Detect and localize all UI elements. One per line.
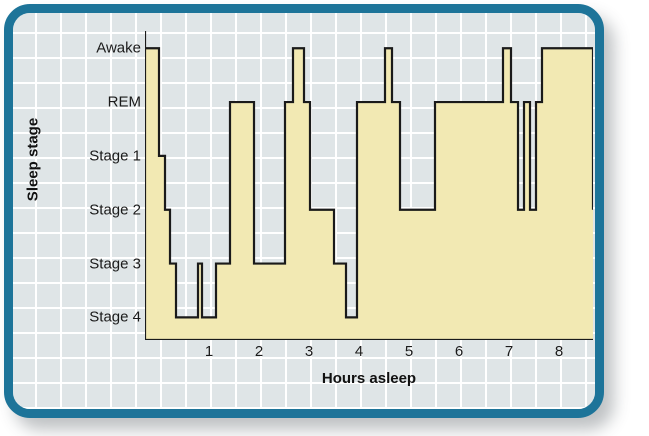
y-tick-rem: REM	[108, 94, 141, 111]
y-tick-awake: Awake	[96, 40, 141, 57]
x-tick-2: 2	[255, 343, 263, 360]
y-tick-stage-4: Stage 4	[89, 309, 141, 326]
y-tick-stage-2: Stage 2	[89, 201, 141, 218]
hypnogram-area-fill	[145, 48, 593, 340]
y-tick-stage-3: Stage 3	[89, 255, 141, 272]
x-tick-8: 8	[555, 343, 563, 360]
x-tick-5: 5	[405, 343, 413, 360]
x-tick-4: 4	[355, 343, 363, 360]
x-tick-7: 7	[505, 343, 513, 360]
plot-area	[145, 31, 593, 340]
x-tick-3: 3	[305, 343, 313, 360]
hypnogram-chart	[145, 31, 593, 340]
figure-root: AwakeREMStage 1Stage 2Stage 3Stage 4 123…	[0, 0, 649, 436]
figure-frame: AwakeREMStage 1Stage 2Stage 3Stage 4 123…	[4, 4, 604, 418]
y-tick-stage-1: Stage 1	[89, 147, 141, 164]
x-axis-title: Hours asleep	[145, 370, 593, 387]
x-axis-tick-labels: 12345678	[145, 343, 593, 365]
x-tick-6: 6	[455, 343, 463, 360]
y-axis-title: Sleep stage	[25, 95, 42, 225]
y-axis-tick-labels: AwakeREMStage 1Stage 2Stage 3Stage 4	[59, 31, 141, 340]
x-tick-1: 1	[205, 343, 213, 360]
